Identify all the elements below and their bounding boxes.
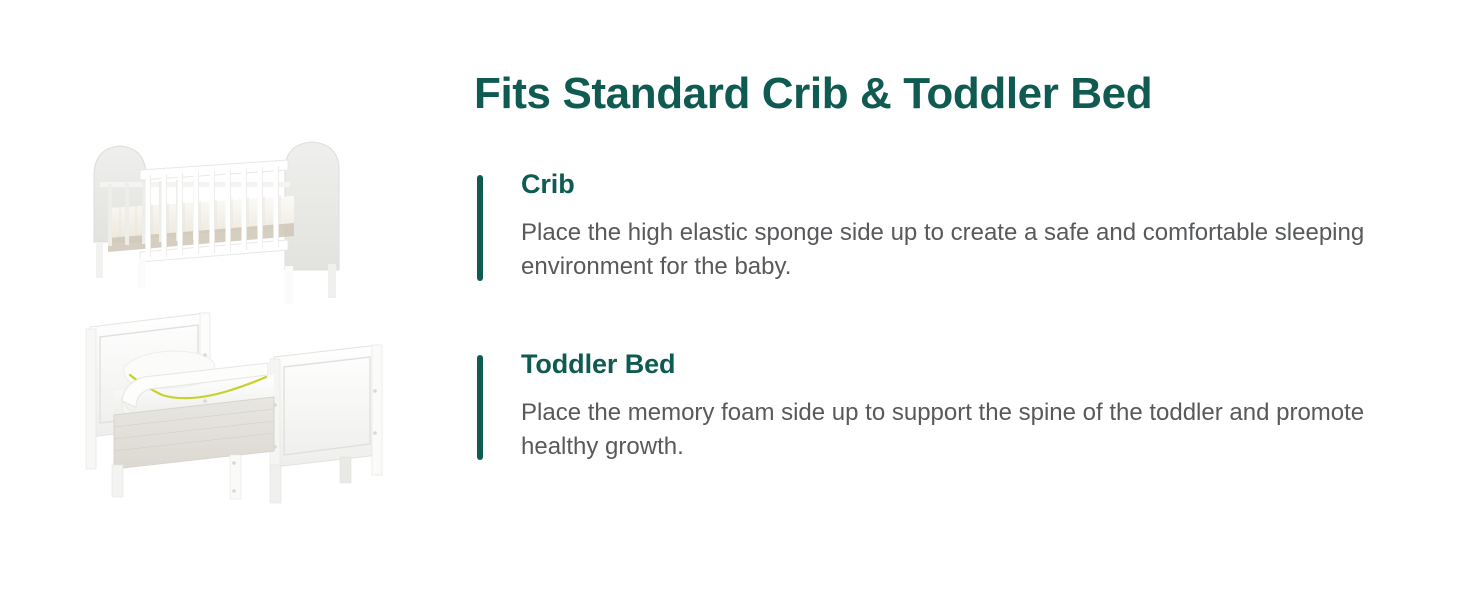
feature-item-crib: Crib Place the high elastic sponge side …	[474, 168, 1434, 285]
feature-body-toddler-bed: Place the memory foam side up to support…	[521, 396, 1431, 464]
feature-list: Crib Place the high elastic sponge side …	[474, 168, 1434, 464]
feature-heading-toddler-bed: Toddler Bed	[521, 348, 1434, 380]
feature-heading-crib: Crib	[521, 168, 1434, 200]
feature-item-toddler-bed: Toddler Bed Place the memory foam side u…	[474, 348, 1434, 465]
accent-bar-icon	[477, 355, 483, 461]
toddler-bed-illustration	[78, 305, 398, 510]
product-infographic: Fits Standard Crib & Toddler Bed	[0, 0, 1464, 600]
crib-image	[80, 130, 380, 315]
accent-bar-icon	[477, 175, 483, 281]
product-image-column	[60, 120, 420, 520]
crib-illustration	[80, 130, 380, 315]
page-title: Fits Standard Crib & Toddler Bed	[474, 69, 1152, 118]
toddler-bed-image	[78, 305, 398, 510]
feature-body-crib: Place the high elastic sponge side up to…	[521, 216, 1431, 284]
